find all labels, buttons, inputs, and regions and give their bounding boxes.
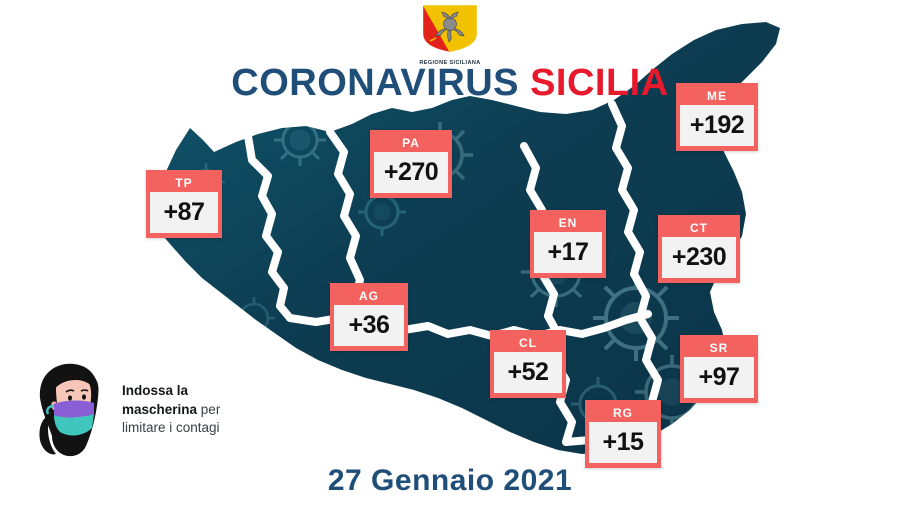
province-code: SR bbox=[684, 339, 754, 357]
province-case-count: +230 bbox=[662, 237, 736, 278]
province-badge-sr: SR+97 bbox=[680, 335, 758, 403]
province-code: AG bbox=[334, 287, 404, 305]
coronavirus-sicilia-infographic: REGIONE SICILIANA CORONAVIRUS SICILIA TP… bbox=[0, 0, 900, 506]
regione-siciliana-logo: REGIONE SICILIANA bbox=[418, 2, 482, 66]
province-case-count: +270 bbox=[374, 152, 448, 193]
date-label: 27 Gennaio 2021 bbox=[0, 464, 900, 498]
page-title: CORONAVIRUS SICILIA bbox=[0, 62, 900, 104]
province-badge-ag: AG+36 bbox=[330, 283, 408, 351]
province-case-count: +192 bbox=[680, 105, 754, 146]
province-case-count: +15 bbox=[589, 422, 657, 463]
province-code: CT bbox=[662, 219, 736, 237]
mask-reminder: Indossa la mascherina per limitare i con… bbox=[26, 358, 276, 466]
mask-reminder-text: Indossa la mascherina per limitare i con… bbox=[122, 382, 282, 438]
mask-line-2-rest: per bbox=[197, 402, 220, 417]
woman-with-mask-icon bbox=[26, 358, 110, 462]
province-badge-rg: RG+15 bbox=[585, 400, 661, 468]
mask-line-3: limitare i contagi bbox=[122, 420, 220, 435]
title-coronavirus: CORONAVIRUS bbox=[231, 62, 519, 104]
province-code: RG bbox=[589, 404, 657, 422]
province-case-count: +97 bbox=[684, 357, 754, 398]
province-case-count: +36 bbox=[334, 305, 404, 346]
province-badge-cl: CL+52 bbox=[490, 330, 566, 398]
province-badge-tp: TP+87 bbox=[146, 170, 222, 238]
province-code: ME bbox=[680, 87, 754, 105]
province-code: PA bbox=[374, 134, 448, 152]
province-badge-en: EN+17 bbox=[530, 210, 606, 278]
province-badge-ct: CT+230 bbox=[658, 215, 740, 283]
mask-line-1: Indossa la bbox=[122, 383, 188, 398]
province-case-count: +52 bbox=[494, 352, 562, 393]
province-code: CL bbox=[494, 334, 562, 352]
trinacria-icon bbox=[418, 2, 482, 54]
title-sicilia: SICILIA bbox=[530, 62, 669, 104]
mask-line-2-bold: mascherina bbox=[122, 402, 197, 417]
province-case-count: +87 bbox=[150, 192, 218, 233]
province-badge-me: ME+192 bbox=[676, 83, 758, 151]
province-case-count: +17 bbox=[534, 232, 602, 273]
province-code: EN bbox=[534, 214, 602, 232]
province-code: TP bbox=[150, 174, 218, 192]
province-badge-pa: PA+270 bbox=[370, 130, 452, 198]
